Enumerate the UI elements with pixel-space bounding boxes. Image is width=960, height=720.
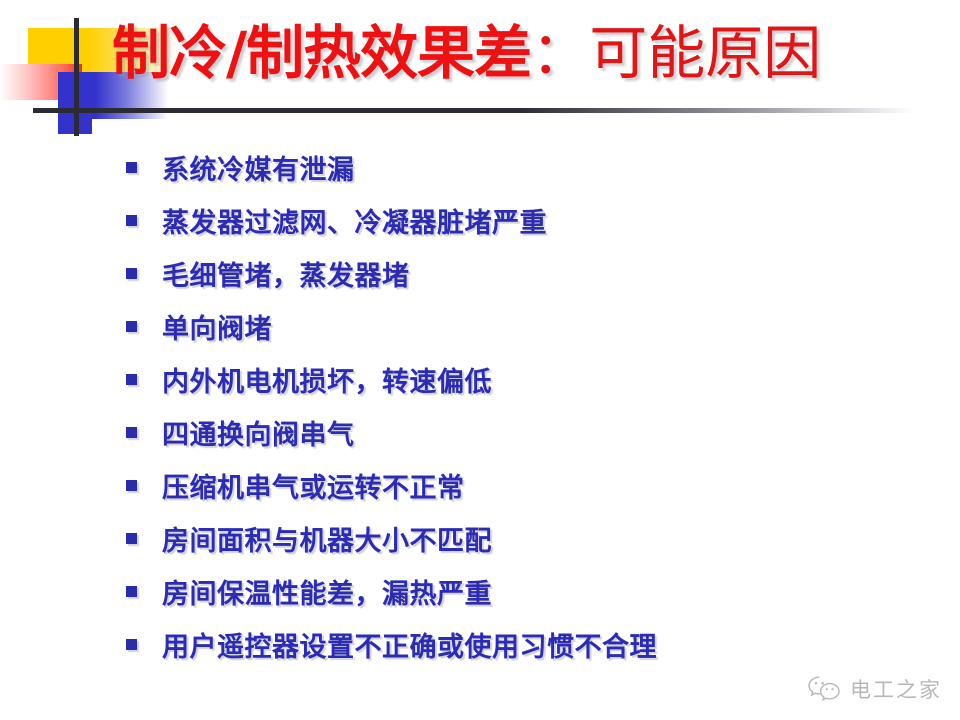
- wechat-icon: [807, 674, 841, 704]
- square-bullet-icon: [126, 427, 137, 438]
- list-item-label: 蒸发器过滤网、冷凝器脏堵严重: [162, 201, 547, 240]
- list-item: 蒸发器过滤网、冷凝器脏堵严重: [126, 194, 916, 247]
- watermark-label: 电工之家: [850, 674, 942, 704]
- square-bullet-icon: [126, 480, 137, 491]
- list-item: 压缩机串气或运转不正常: [126, 459, 916, 512]
- page-title-subject: ：可能原因: [531, 19, 821, 87]
- list-item: 单向阀堵: [126, 300, 916, 353]
- list-item-label: 单向阀堵: [162, 307, 272, 346]
- list-item: 房间保温性能差，漏热严重: [126, 565, 916, 618]
- square-bullet-icon: [126, 586, 137, 597]
- square-bullet-icon: [126, 533, 137, 544]
- list-item: 毛细管堵，蒸发器堵: [126, 247, 916, 300]
- list-item-label: 房间保温性能差，漏热严重: [162, 572, 492, 611]
- square-bullet-icon: [126, 162, 137, 173]
- decoration-blue-foot: [58, 110, 92, 134]
- list-item: 房间面积与机器大小不匹配: [126, 512, 916, 565]
- decoration-vertical-rule: [74, 18, 79, 136]
- cause-list: 系统冷媒有泄漏 蒸发器过滤网、冷凝器脏堵严重 毛细管堵，蒸发器堵 单向阀堵 内外…: [126, 141, 916, 671]
- list-item: 用户遥控器设置不正确或使用习惯不合理: [126, 618, 916, 671]
- square-bullet-icon: [126, 215, 137, 226]
- square-bullet-icon: [126, 374, 137, 385]
- list-item-label: 毛细管堵，蒸发器堵: [162, 254, 410, 293]
- list-item: 系统冷媒有泄漏: [126, 141, 916, 194]
- list-item: 内外机电机损坏，转速偏低: [126, 353, 916, 406]
- list-item-label: 压缩机串气或运转不正常: [162, 466, 465, 505]
- square-bullet-icon: [126, 268, 137, 279]
- list-item-label: 用户遥控器设置不正确或使用习惯不合理: [162, 625, 657, 664]
- list-item-label: 四通换向阀串气: [162, 413, 355, 452]
- list-item-label: 系统冷媒有泄漏: [162, 148, 355, 187]
- slide-canvas: 制冷/制热效果差：可能原因 系统冷媒有泄漏 蒸发器过滤网、冷凝器脏堵严重 毛细管…: [0, 0, 960, 720]
- page-title: 制冷/制热效果差：可能原因: [112, 24, 821, 82]
- decoration-horizontal-rule: [33, 108, 913, 113]
- page-title-emphasis: 制冷/制热效果差: [112, 19, 531, 87]
- list-item-label: 房间面积与机器大小不匹配: [162, 519, 492, 558]
- square-bullet-icon: [126, 639, 137, 650]
- list-item-label: 内外机电机损坏，转速偏低: [162, 360, 492, 399]
- list-item: 四通换向阀串气: [126, 406, 916, 459]
- watermark: 电工之家: [807, 674, 942, 704]
- square-bullet-icon: [126, 321, 137, 332]
- decoration-red-block: [0, 64, 82, 100]
